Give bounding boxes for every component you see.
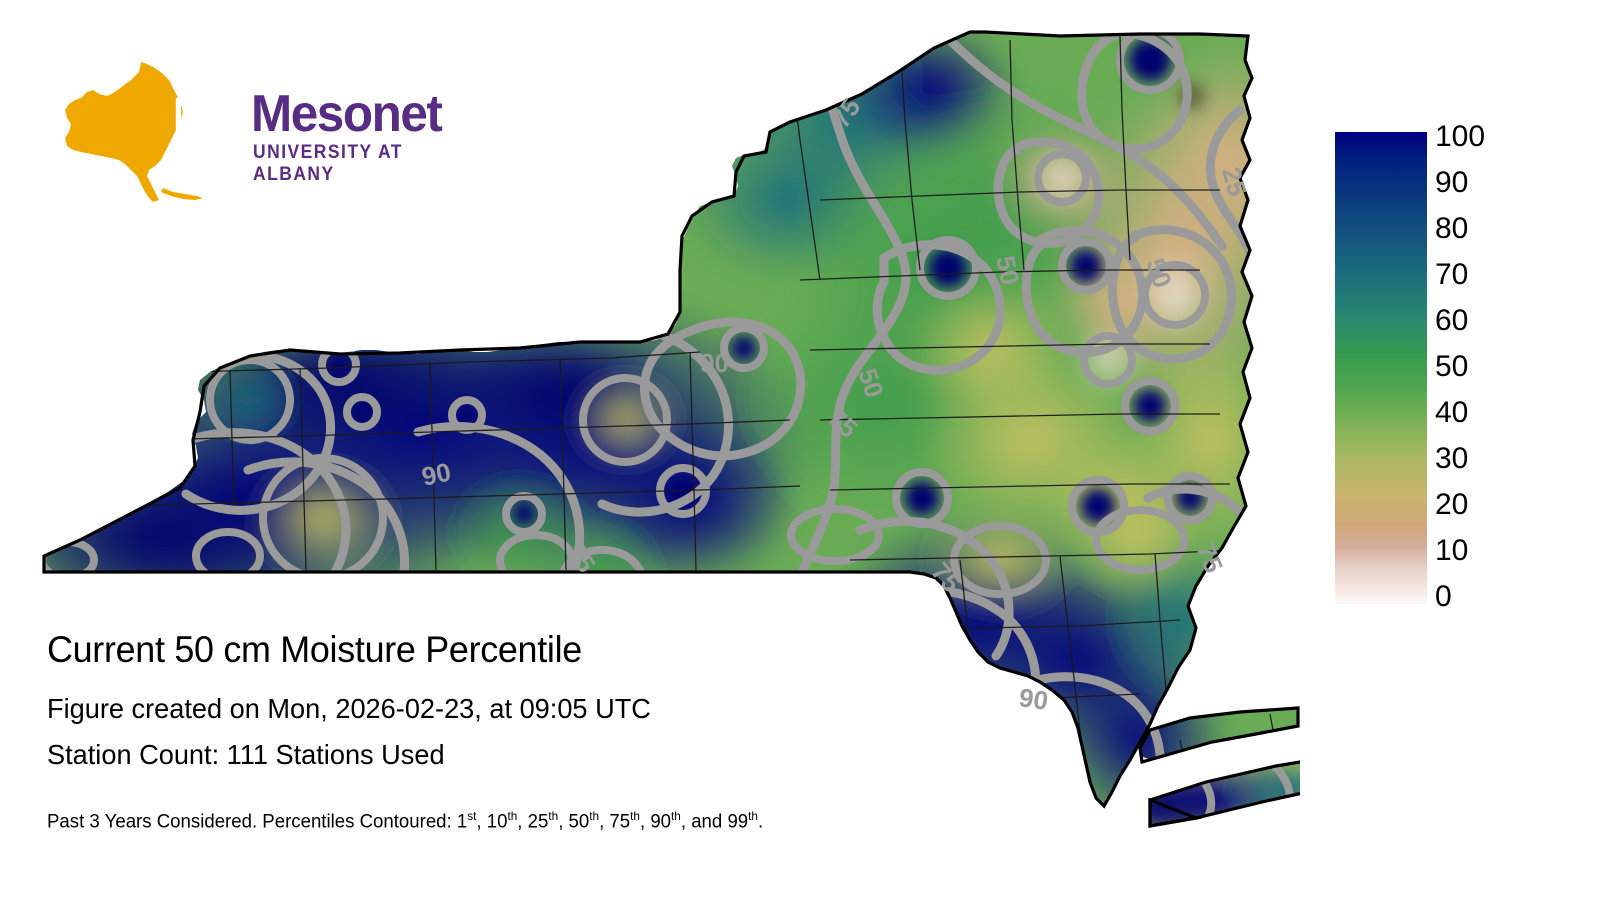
footnote-ordinal: th [671,809,681,823]
colorbar-tick: 70 [1435,260,1468,290]
colorbar-tick: 50 [1435,352,1468,382]
footnote-value: 50 [569,811,590,832]
colorbar-tick-labels: 100 90 80 70 60 50 40 30 20 10 0 [1435,122,1555,614]
colorbar-tick: 10 [1435,536,1468,566]
colorbar-tick: 20 [1435,490,1468,520]
figure-station-count: Station Count: 111 Stations Used [47,738,1017,772]
colorbar-gradient [1335,132,1427,604]
footnote-value: 1 [457,811,467,832]
colorbar-tick: 100 [1435,122,1485,152]
footnote-ordinal: th [507,809,517,823]
colorbar-tick: 0 [1435,582,1452,612]
footnote-value: 25 [528,811,549,832]
footnote-prefix: Past 3 Years Considered. Percentiles Con… [47,811,457,832]
colorbar-tick: 60 [1435,306,1468,336]
footnote-value: 90 [650,811,671,832]
footnote-ordinal: th [748,809,758,823]
footnote-ordinal: th [589,809,599,823]
contour-label: 90 [700,348,729,378]
footnote-value: 75 [609,811,630,832]
figure-created-time: Figure created on Mon, 2026-02-23, at 09… [47,692,1017,726]
colorbar: 100 90 80 70 60 50 40 30 20 10 0 [1335,122,1585,612]
figure-title: Current 50 cm Moisture Percentile [47,628,1017,672]
contour-label: 50 [990,253,1025,288]
colorbar-tick: 90 [1435,168,1468,198]
footnote-ordinal: th [630,809,640,823]
colorbar-tick: 40 [1435,398,1468,428]
figure-footnote: Past 3 Years Considered. Percentiles Con… [47,804,1027,834]
colorbar-tick: 80 [1435,214,1468,244]
colorbar-tick: 30 [1435,444,1468,474]
figure-text-block: Current 50 cm Moisture Percentile Figure… [47,628,1047,834]
footnote-value: 99 [727,811,748,832]
contour-label: 90 [419,457,454,492]
footnote-ordinal: th [548,809,558,823]
footnote-value: 10 [487,811,508,832]
footnote-ordinal: st [467,809,476,823]
footnote-suffix: . [758,811,763,832]
footnote-conjunction: and [691,811,722,832]
